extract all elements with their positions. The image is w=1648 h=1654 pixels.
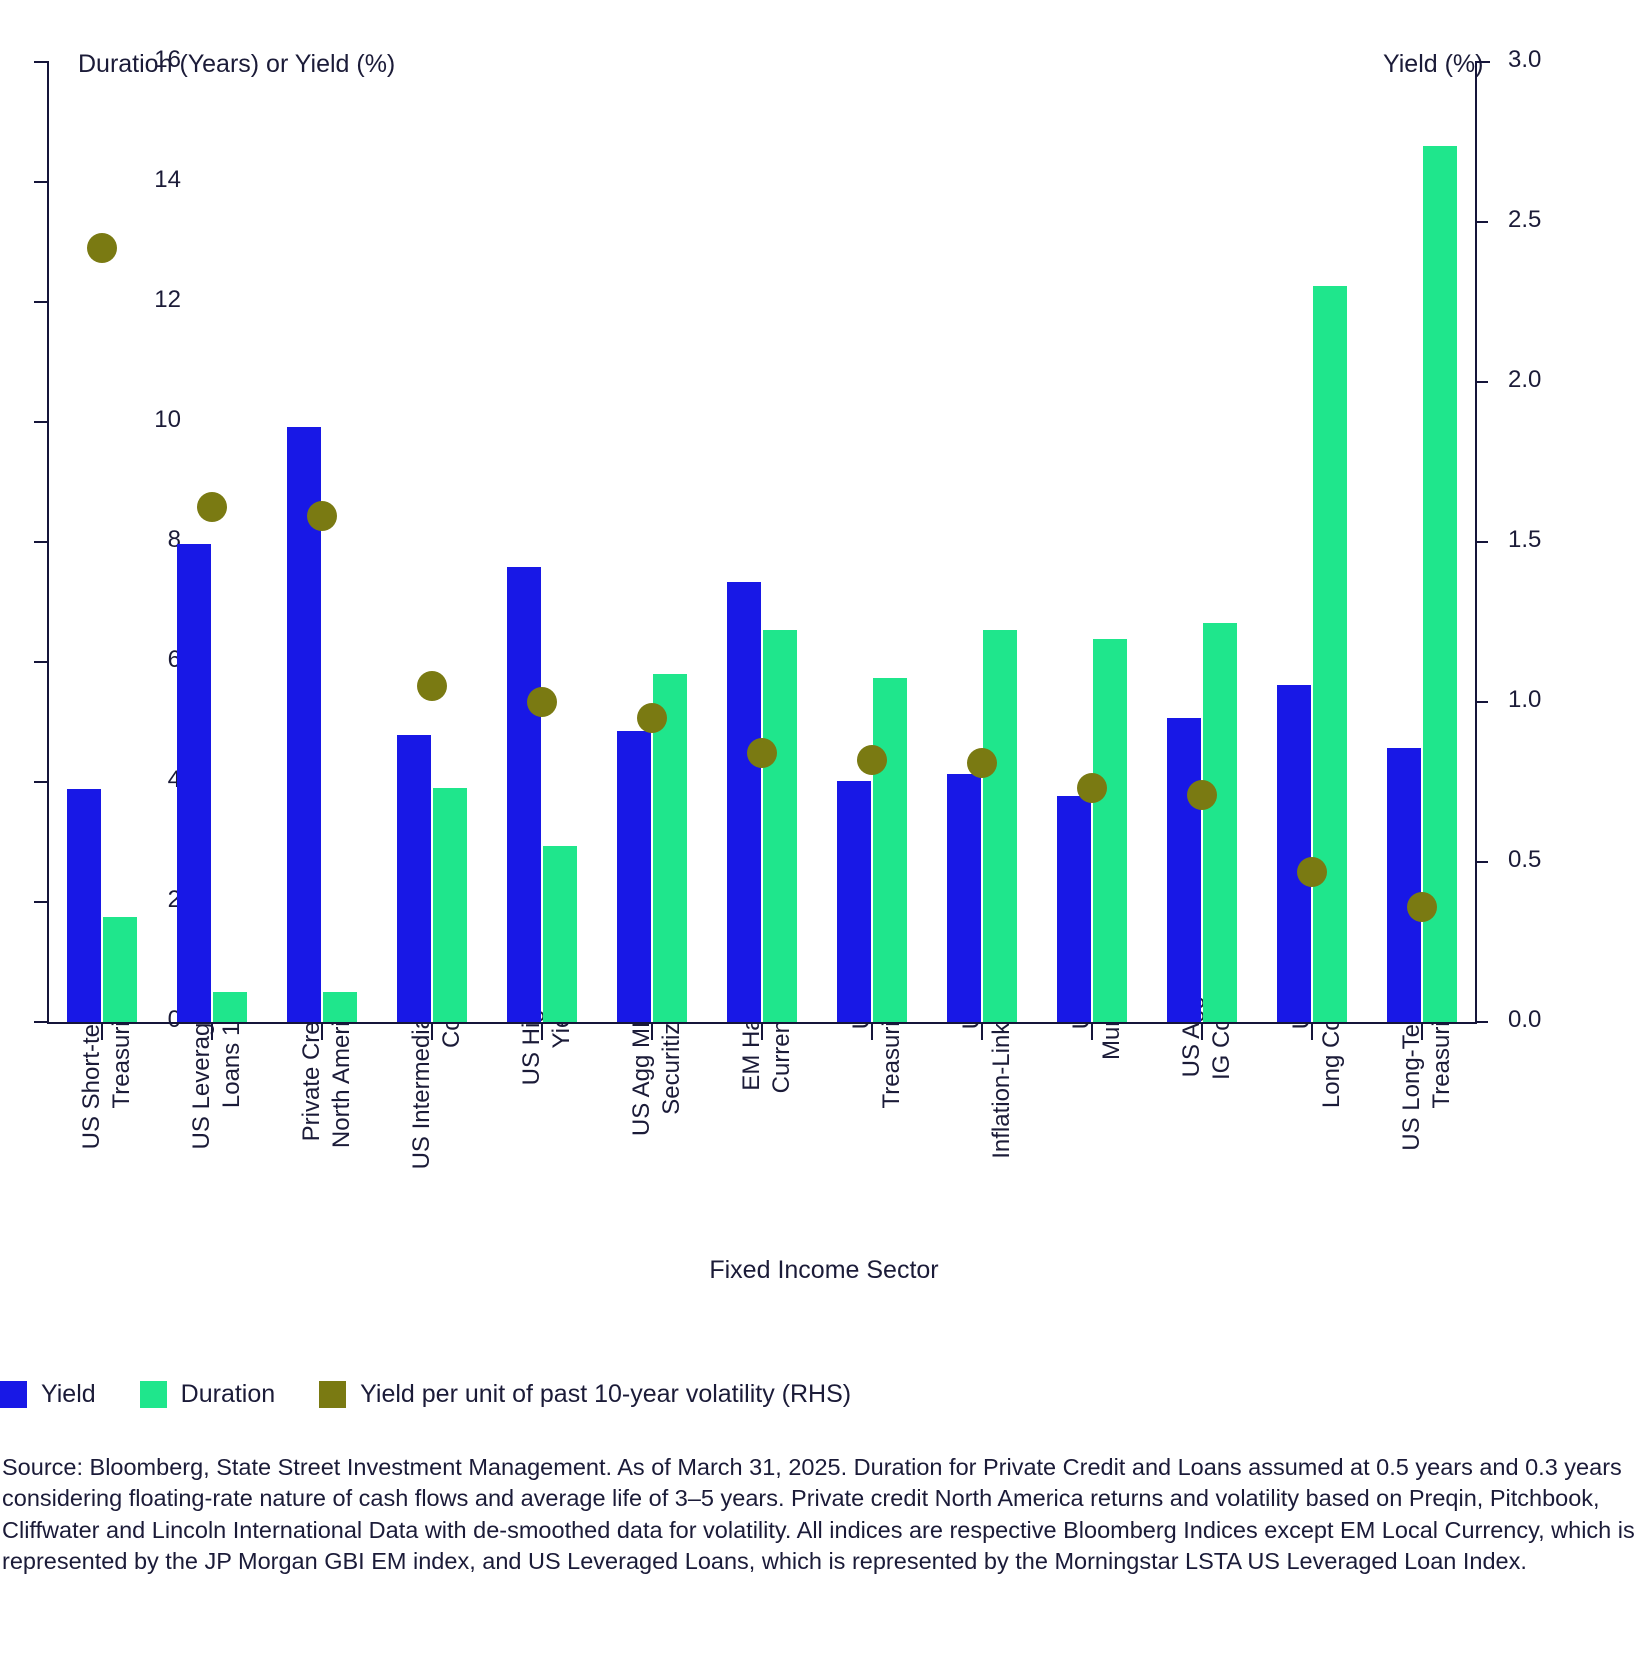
- scatter-point-yield-per-vol: [307, 501, 337, 531]
- x-axis-tick-label: Corp: [438, 996, 466, 1196]
- legend-label: Duration: [181, 1380, 276, 1409]
- bar-duration: [323, 992, 357, 1022]
- right-axis-tick: [1475, 1021, 1488, 1023]
- scatter-point-yield-per-vol: [87, 233, 117, 263]
- x-axis-tick: [871, 1024, 873, 1040]
- x-axis-tick: [1201, 1024, 1203, 1040]
- bar-duration: [543, 846, 577, 1022]
- left-axis-tick: [34, 661, 47, 663]
- left-axis-tick: [34, 181, 47, 183]
- bar-yield: [177, 544, 211, 1022]
- legend-label: Yield: [41, 1380, 96, 1409]
- legend-swatch: [319, 1381, 346, 1408]
- x-axis-tick: [321, 1024, 323, 1040]
- bar-duration: [1423, 146, 1457, 1022]
- source-footnote: Source: Bloomberg, State Street Investme…: [2, 1452, 1642, 1577]
- bar-duration: [1093, 639, 1127, 1022]
- legend-swatch: [140, 1381, 167, 1408]
- left-axis-tick: [34, 901, 47, 903]
- bar-yield: [947, 774, 981, 1022]
- x-axis-tick: [1421, 1024, 1423, 1040]
- right-axis-tick: [1475, 221, 1488, 223]
- x-axis-tick: [431, 1024, 433, 1040]
- right-axis-tick-label: 2.5: [1508, 208, 1588, 232]
- x-axis-tick-label: Munis: [1098, 996, 1126, 1196]
- scatter-point-yield-per-vol: [747, 738, 777, 768]
- x-axis-tick-label: Treasuries: [878, 996, 906, 1196]
- bar-yield: [727, 582, 761, 1022]
- right-axis-tick-label: 0.5: [1508, 848, 1588, 872]
- right-axis-tick-label: 2.0: [1508, 368, 1588, 392]
- x-axis-tick-label: Treasuries: [1428, 996, 1456, 1196]
- bar-duration: [103, 917, 137, 1022]
- right-axis-tick-label: 3.0: [1508, 48, 1588, 72]
- left-axis-tick: [34, 61, 49, 63]
- legend-item[interactable]: Yield: [0, 1380, 140, 1409]
- chart-legend: YieldDurationYield per unit of past 10-y…: [0, 1374, 1648, 1414]
- left-axis-tick: [34, 781, 47, 783]
- x-axis-title: Fixed Income Sector: [0, 1256, 1648, 1285]
- x-axis-tick: [761, 1024, 763, 1040]
- bar-duration: [873, 678, 907, 1022]
- bar-yield: [617, 731, 651, 1022]
- x-axis-tick: [981, 1024, 983, 1040]
- legend-label: Yield per unit of past 10-year volatilit…: [360, 1380, 851, 1409]
- x-axis-tick: [1091, 1024, 1093, 1040]
- scatter-point-yield-per-vol: [1187, 780, 1217, 810]
- bar-yield: [1387, 748, 1421, 1022]
- bar-yield: [1057, 796, 1091, 1022]
- x-axis-tick-label: Yield: [548, 996, 576, 1196]
- scatter-point-yield-per-vol: [1407, 892, 1437, 922]
- bar-duration: [1203, 623, 1237, 1022]
- x-axis-tick-label: Currency: [768, 996, 796, 1196]
- plot-area: [47, 62, 1477, 1024]
- bar-duration: [763, 630, 797, 1022]
- x-axis-tick: [541, 1024, 543, 1040]
- x-axis-tick: [101, 1024, 103, 1040]
- bar-duration: [1313, 286, 1347, 1022]
- scatter-point-yield-per-vol: [857, 745, 887, 775]
- bar-yield: [837, 781, 871, 1022]
- bar-duration: [433, 788, 467, 1022]
- x-axis-tick: [1311, 1024, 1313, 1040]
- left-axis-tick: [34, 1021, 47, 1023]
- right-axis-spine: [1475, 62, 1477, 1024]
- scatter-point-yield-per-vol: [637, 703, 667, 733]
- right-axis-tick-label: 1.5: [1508, 528, 1588, 552]
- scatter-point-yield-per-vol: [527, 687, 557, 717]
- legend-item[interactable]: Duration: [140, 1380, 320, 1409]
- right-axis-tick-label: 0.0: [1508, 1008, 1588, 1032]
- x-axis-tick-label: Long Corp: [1318, 996, 1346, 1196]
- x-axis-tick-label: Inflation-Linked: [988, 996, 1016, 1196]
- left-axis-tick: [34, 541, 47, 543]
- scatter-point-yield-per-vol: [967, 748, 997, 778]
- x-axis-tick-label: North America: [328, 996, 356, 1196]
- right-axis-tick-label: 1.0: [1508, 688, 1588, 712]
- bar-yield: [507, 567, 541, 1022]
- scatter-point-yield-per-vol: [417, 671, 447, 701]
- x-axis-tick-label: Securitized: [658, 996, 686, 1196]
- bar-yield: [67, 789, 101, 1022]
- bar-yield: [397, 735, 431, 1022]
- left-axis-tick: [34, 421, 47, 423]
- bar-yield: [1167, 718, 1201, 1022]
- right-axis-tick: [1475, 861, 1488, 863]
- legend-item[interactable]: Yield per unit of past 10-year volatilit…: [319, 1380, 895, 1409]
- x-axis-tick-label: Treasuries: [108, 996, 136, 1196]
- left-axis-tick: [34, 301, 47, 303]
- bar-duration: [983, 630, 1017, 1022]
- bar-duration: [213, 992, 247, 1022]
- bar-yield: [1277, 685, 1311, 1022]
- left-axis-spine: [47, 62, 49, 1024]
- legend-swatch: [0, 1381, 27, 1408]
- x-axis-tick-label: Loans 100: [218, 996, 246, 1196]
- x-axis-tick: [211, 1024, 213, 1040]
- x-axis-tick: [651, 1024, 653, 1040]
- right-axis-tick: [1475, 541, 1488, 543]
- scatter-point-yield-per-vol: [1297, 857, 1327, 887]
- right-axis-tick: [1475, 381, 1488, 383]
- right-axis-tick: [1475, 61, 1490, 63]
- chart-figure: Duration (Years) or Yield (%) Yield (%) …: [0, 0, 1648, 1654]
- x-axis-tick-label: IG Corp: [1208, 996, 1236, 1196]
- right-axis-tick: [1475, 701, 1488, 703]
- scatter-point-yield-per-vol: [197, 492, 227, 522]
